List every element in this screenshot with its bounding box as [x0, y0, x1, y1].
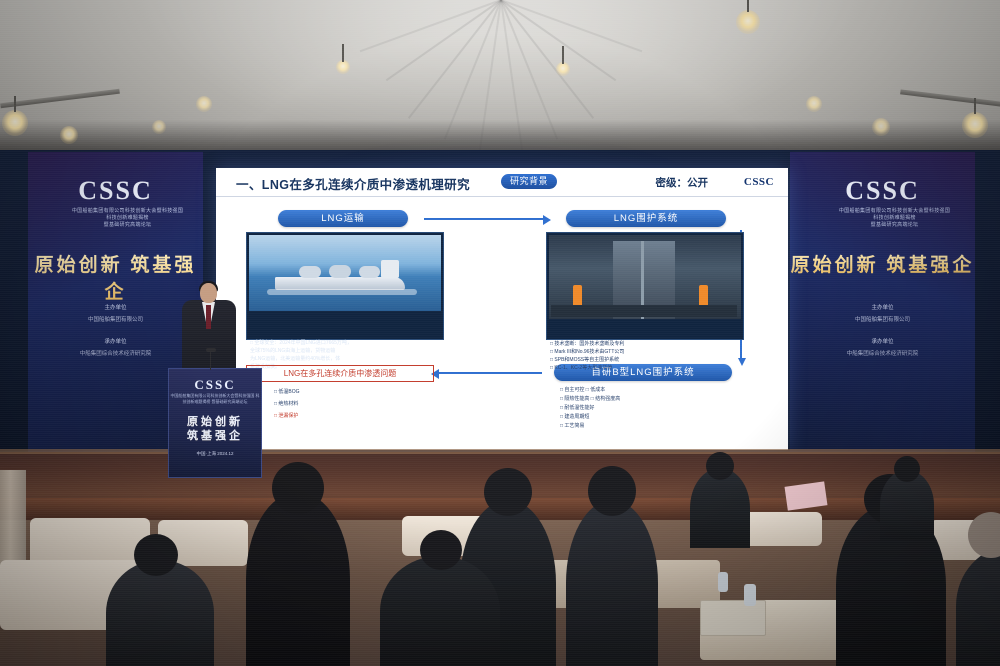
backdrop-right-organizer-label: 主办单位: [790, 304, 975, 313]
slide-brand: CSSC: [744, 176, 774, 188]
spot-light: [806, 96, 822, 112]
backdrop-right-organizer: 中国船舶集团有限公司: [790, 316, 975, 325]
audience-head: [484, 468, 532, 516]
audience-head: [894, 456, 920, 482]
podium-subtitle: 中国船舶集团有限公司科技创新大会暨科技强国 科技创新难题揭榜 暨基础研究高端论坛: [169, 393, 261, 405]
stage-edge: [0, 449, 1000, 454]
slide-containment-bullet-1: □ Mark III和No.96技术由GTT公司: [550, 348, 746, 356]
spot-light: [962, 112, 988, 138]
light-stem: [562, 46, 564, 64]
slide-transport-bullet-1: 全球75%的LNG由海上运输，货物运输: [250, 348, 440, 356]
slide-highlight-bullet-0: □ 低温BOG: [274, 388, 300, 396]
slide-selfdev-bullet-1: □ 隔热性能高 □ 结构强度高: [560, 395, 740, 403]
slide-image-containment-tank: [546, 232, 744, 340]
slide-selfdev-bullet-0: □ 自主可控 □ 低成本: [560, 386, 740, 394]
audience-person: [566, 500, 658, 666]
slide-containment-bullet-3: □ KC-1、KC-2等大型液货舱: [550, 364, 746, 372]
presentation-screen: 一、LNG在多孔连续介质中渗透机理研究 研究背景 密级：公开 CSSC LNG运…: [216, 168, 788, 450]
audience-head: [706, 452, 734, 480]
backdrop-left-brand: CSSC: [28, 176, 203, 206]
spot-light: [556, 62, 570, 76]
audience-person: [106, 560, 214, 666]
backdrop-left-coorganizer-label: 承办单位: [28, 338, 203, 347]
water-cup: [718, 572, 728, 592]
spot-light: [736, 10, 760, 34]
backdrop-left-organizer-label: 主办单位: [28, 304, 203, 313]
audience-head: [272, 462, 324, 514]
light-stem: [14, 96, 16, 112]
slide-highlight-bullet-2: □ 泄漏保护: [274, 412, 298, 420]
audience-person: [246, 492, 350, 666]
backdrop-right-subtitle: 中国船舶集团有限公司科技创新大会暨科技强国 科技创新难题揭榜 暨基础研究高端论坛: [790, 208, 999, 229]
spot-light: [2, 110, 28, 136]
light-stem: [974, 98, 976, 114]
notebook: [700, 600, 766, 636]
spot-light: [152, 120, 166, 134]
podium-slogan-line2: 筑基强企: [169, 427, 261, 443]
speaker-tie: [206, 305, 211, 329]
slide-highlight-box: LNG在多孔连续介质中渗透问题: [246, 365, 434, 382]
audience-head: [420, 530, 462, 570]
audience-person: [690, 468, 750, 548]
water-cup: [744, 584, 756, 606]
light-stem: [747, 0, 749, 12]
backdrop-right-brand: CSSC: [790, 176, 975, 206]
backdrop-right: CSSC 中国船舶集团有限公司科技创新大会暨科技强国 科技创新难题揭榜 暨基础研…: [790, 152, 975, 477]
slide-selfdev-bullet-4: □ 工艺简易: [560, 422, 740, 430]
slide-content: 一、LNG在多孔连续介质中渗透机理研究 研究背景 密级：公开 CSSC LNG运…: [216, 168, 788, 450]
speaker-head: [200, 283, 217, 303]
spot-light: [336, 60, 350, 74]
slide-containment-bullet-0: □ 技术垄断：国外技术垄断及专利: [550, 340, 746, 348]
slide-section-ribbon: 研究背景: [501, 174, 557, 189]
podium-brand: CSSC: [169, 377, 261, 393]
slide-box-containment-label: LNG围护系统: [566, 210, 726, 227]
slide-containment-bullet-2: □ SPB和MOSS等自主围护系统: [550, 356, 746, 364]
slide-image-lng-carrier: [246, 232, 444, 340]
audience-head: [134, 534, 178, 576]
arrow-selfdev-to-highlight: [438, 372, 542, 374]
backdrop-left-slogan: 原始创新 筑基强企: [28, 250, 203, 304]
backdrop-left-organizer: 中国船舶集团有限公司: [28, 316, 203, 325]
spot-light: [196, 96, 212, 112]
backdrop-left-subtitle: 中国船舶集团有限公司科技创新大会暨科技强国 科技创新难题揭榜 暨基础研究高端论坛: [28, 208, 227, 229]
microphone-head: [206, 348, 216, 352]
slide-highlight-bullet-1: □ 绝热材料: [274, 400, 298, 408]
slide-security-label: 密级：公开: [656, 175, 709, 190]
backdrop-right-coorganizer-label: 承办单位: [790, 338, 975, 347]
slide-transport-bullet-2: 为LNG运输，北美运输量约40%增长，体: [250, 356, 440, 364]
spot-light: [60, 126, 78, 144]
spot-light: [872, 118, 890, 136]
slide-selfdev-bullet-3: □ 建造周期短: [560, 413, 740, 421]
podium-footer: 中国·上海 2024.12: [169, 451, 261, 457]
light-stem: [342, 44, 344, 62]
arrow-transport-to-containment: [424, 218, 544, 220]
audience-head: [588, 466, 636, 516]
backdrop-right-slogan: 原始创新 筑基强企: [790, 250, 975, 277]
slide-selfdev-bullet-2: □ 耐低温性能好: [560, 404, 740, 412]
slide-transport-bullet-0: □ 全球安全：2024年中国LNG进口7665万吨，: [250, 340, 440, 348]
backdrop-right-coorganizer: 中船集团综合技术经济研究院: [790, 350, 975, 359]
backdrop-left-coorganizer: 中船集团综合技术经济研究院: [28, 350, 203, 359]
audience-person: [380, 556, 500, 666]
audience-sofa: [742, 512, 822, 546]
podium: CSSC 中国船舶集团有限公司科技创新大会暨科技强国 科技创新难题揭榜 暨基础研…: [168, 368, 262, 478]
slide-title: 一、LNG在多孔连续介质中渗透机理研究: [236, 174, 470, 193]
slide-box-transport-label: LNG运输: [278, 210, 408, 227]
conference-photo-scene: CSSC 中国船舶集团有限公司科技创新大会暨科技强国 科技创新难题揭榜 暨基础研…: [0, 0, 1000, 666]
microphone-stem: [210, 352, 211, 370]
